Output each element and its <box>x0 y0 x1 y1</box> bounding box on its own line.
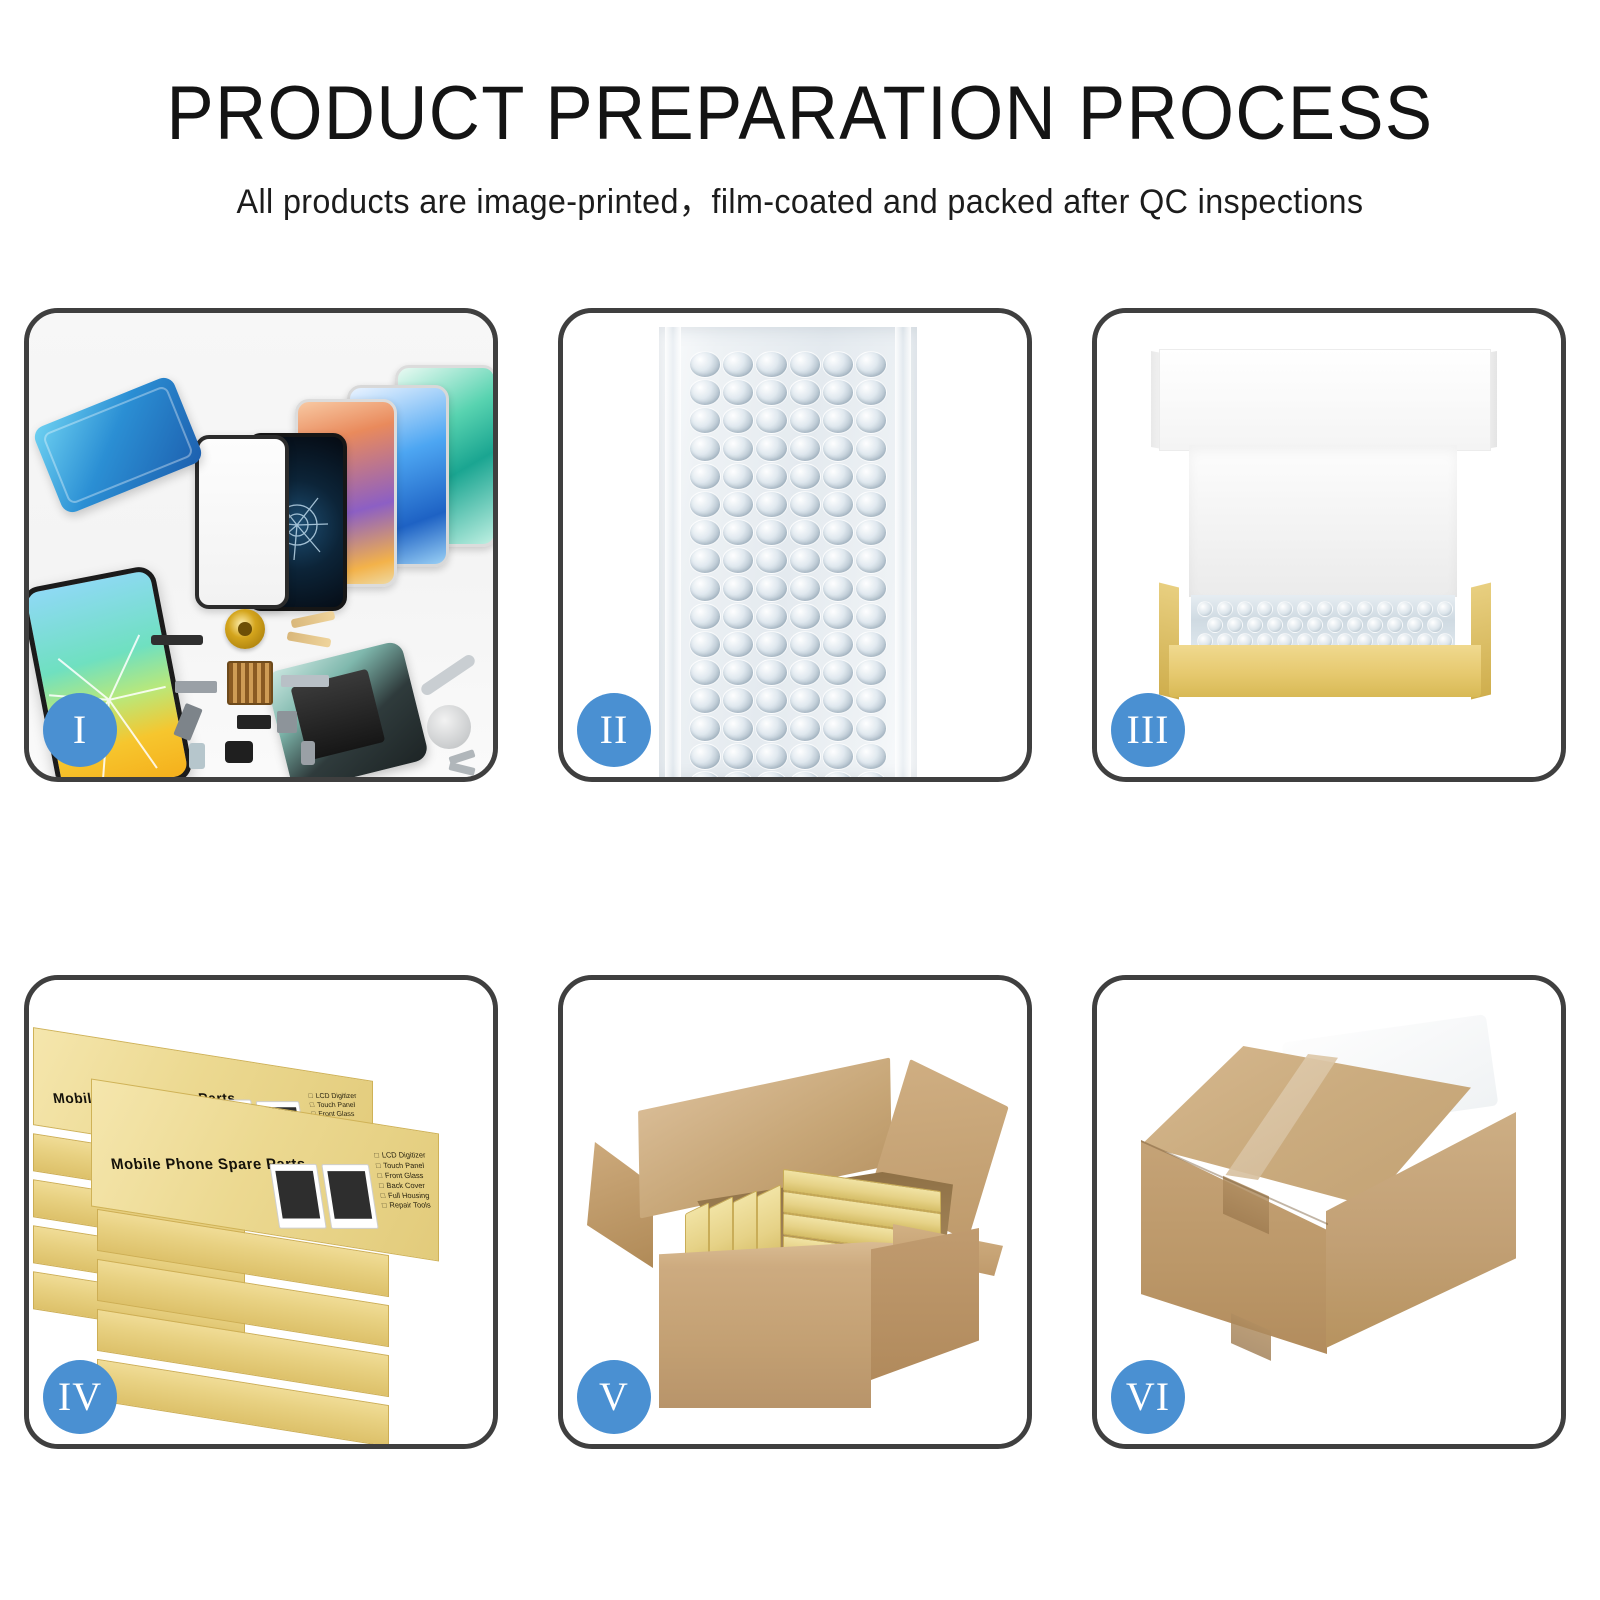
box-front-wall <box>1169 645 1481 697</box>
carton-front-wall <box>659 1266 871 1408</box>
page-title: PRODUCT PREPARATION PROCESS <box>56 74 1544 154</box>
process-step-panel-5[interactable]: V <box>558 975 1032 1449</box>
camera-flex-part <box>281 675 329 687</box>
vibrator-part <box>277 711 297 733</box>
sim-tray-part <box>189 743 205 769</box>
process-step-panel-6[interactable]: VI <box>1092 975 1566 1449</box>
box-foam-insert <box>1189 445 1457 597</box>
earpiece-mesh-part <box>151 635 203 645</box>
step-badge-1: I <box>43 693 117 767</box>
bubble-grid <box>689 351 887 771</box>
process-step-panel-4[interactable]: Mobile Phone Spare Parts LCD Digitizer T… <box>24 975 498 1449</box>
page-header: PRODUCT PREPARATION PROCESS All products… <box>0 0 1600 223</box>
connector-part <box>175 681 217 693</box>
polishing-cloth <box>427 705 471 749</box>
step-badge-3: III <box>1111 693 1185 767</box>
speaker-part <box>237 715 271 729</box>
retail-box-screen-image <box>321 1164 378 1229</box>
step-badge-2: II <box>577 693 651 767</box>
retail-box-screen-image <box>269 1164 326 1229</box>
small-component-part <box>301 741 315 765</box>
process-step-panel-2[interactable]: II <box>558 308 1032 782</box>
step-badge-5: V <box>577 1360 651 1434</box>
process-step-panel-3[interactable]: III <box>1092 308 1566 782</box>
step-badge-4: IV <box>43 1360 117 1434</box>
page-subtitle: All products are image-printed，film-coat… <box>40 174 1560 223</box>
retail-box-checklist: LCD Digitizer Touch Panel Front Glass Ba… <box>374 1151 434 1211</box>
box-lid-back <box>1159 349 1491 451</box>
bubble-wrap-pouch <box>659 327 917 777</box>
ic-chip <box>227 661 273 705</box>
camera-module-part <box>225 741 253 763</box>
wireless-charging-coil <box>225 609 265 649</box>
bubble-wrapped-item <box>1191 595 1455 651</box>
process-step-panel-1[interactable]: I <box>24 308 498 782</box>
phone-front-glass-blank <box>195 435 289 609</box>
step-badge-6: VI <box>1111 1360 1185 1434</box>
process-step-grid: I <box>24 308 1576 1449</box>
